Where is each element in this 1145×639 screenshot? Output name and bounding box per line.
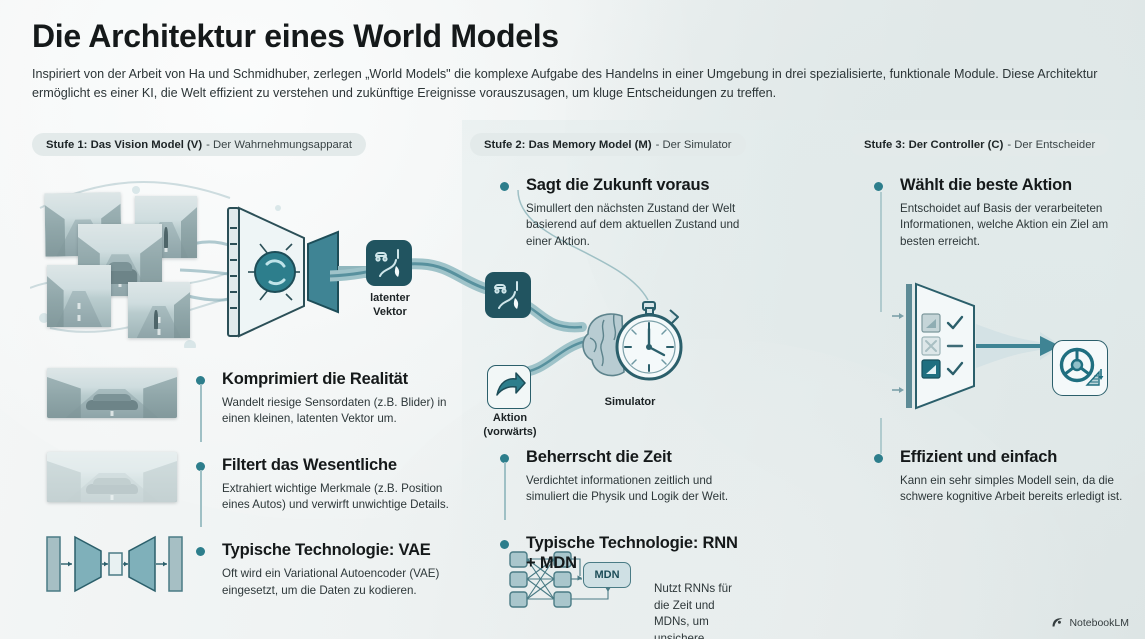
bullet-body: Kann ein sehr simples Modell sein, da di… bbox=[900, 473, 1124, 506]
bullet-rail bbox=[200, 384, 202, 442]
bullet-sagt-zukunft: Sagt die Zukunft voraus Simullert den nä… bbox=[500, 176, 750, 250]
action-label-line2: (vorwärts) bbox=[472, 426, 548, 440]
stage-pill-3: Stufe 3: Der Controller (C) - Der Entsch… bbox=[850, 133, 1109, 156]
page-title: Die Architektur eines World Models bbox=[32, 18, 1113, 55]
latent-vector-label: latenter Vektor bbox=[360, 292, 420, 320]
bullet-body: Oft wird ein Variational Autoencoder (VA… bbox=[222, 566, 458, 599]
action-arrow-icon bbox=[487, 365, 531, 409]
bullet-heading: Filtert das Wesentliche bbox=[222, 456, 458, 476]
stopwatch-icon bbox=[608, 300, 694, 392]
column-2-bullet-1: Sagt die Zukunft voraus Simullert den nä… bbox=[500, 176, 750, 250]
bullet-rail bbox=[504, 462, 506, 520]
bullet-dot-icon bbox=[196, 547, 205, 556]
page-subtitle: Inspiriert von der Arbeit von Ha und Sch… bbox=[32, 65, 1113, 103]
preview-photo-foggy bbox=[47, 452, 177, 502]
stage-1-rest: - Der Wahrnehmungsapparat bbox=[206, 139, 352, 151]
watermark-label: NotebookLM bbox=[1069, 617, 1129, 629]
steering-wheel-icon bbox=[1052, 340, 1108, 396]
bullet-body: Simullert den nächsten Zustand der Welt … bbox=[526, 201, 750, 250]
bullet-dot-icon bbox=[500, 540, 509, 549]
stage-pill-2: Stufe 2: Das Memory Model (M) - Der Simu… bbox=[470, 133, 746, 156]
sensor-photo-5 bbox=[128, 282, 190, 338]
bullet-effizient: Effizient und einfach Kann ein sehr simp… bbox=[874, 448, 1124, 506]
bullet-heading: Effizient und einfach bbox=[900, 448, 1124, 468]
preview-photo-clear bbox=[47, 368, 177, 418]
stage-pill-1: Stufe 1: Das Vision Model (V) - Der Wahr… bbox=[32, 133, 366, 156]
latent-vector-label-line1: latenter bbox=[360, 292, 420, 306]
bullet-beherrscht-zeit: Beherrscht die Zeit Verdichtet informati… bbox=[500, 448, 750, 506]
bullet-komprimiert: Komprimiert die Realität Wandelt riesige… bbox=[196, 370, 458, 428]
bullet-heading: Wählt die beste Aktion bbox=[900, 176, 1124, 196]
stage-2-rest: - Der Simulator bbox=[656, 139, 732, 151]
bullet-rnn-mdn: Typische Technologie: RNN + MDN Nutzt RN… bbox=[500, 534, 750, 639]
vae-diagram bbox=[45, 533, 185, 595]
column-3-bullet-2: Effizient und einfach Kann ein sehr simp… bbox=[874, 448, 1124, 506]
stage-3-rest: - Der Entscheider bbox=[1007, 139, 1095, 151]
bullet-heading: Typische Technologie: RNN + MDN bbox=[526, 534, 750, 574]
stage-2-strong: Stufe 2: Das Memory Model (M) bbox=[484, 139, 652, 151]
bullet-body: Nutzt RNNs für die Zeit und MDNs, um uns… bbox=[654, 581, 750, 639]
column-1-bullets: Komprimiert die Realität Wandelt riesige… bbox=[196, 370, 458, 599]
bullet-body: Wandelt riesige Sensordaten (z.B. Blider… bbox=[222, 395, 458, 428]
simulator-label: Simulator bbox=[590, 396, 670, 410]
bullet-dot-icon bbox=[874, 182, 883, 191]
bullet-rail bbox=[200, 470, 202, 528]
bullet-heading: Beherrscht die Zeit bbox=[526, 448, 750, 468]
stage-1-strong: Stufe 1: Das Vision Model (V) bbox=[46, 139, 202, 151]
bullet-heading: Typische Technologie: VAE bbox=[222, 541, 458, 561]
bullet-heading: Sagt die Zukunft voraus bbox=[526, 176, 750, 196]
header: Die Architektur eines World Models Inspi… bbox=[32, 18, 1113, 103]
latent-vector-icon bbox=[366, 240, 412, 286]
action-label: Aktion (vorwärts) bbox=[472, 412, 548, 440]
bullet-body: Extrahiert wichtige Merkmale (z.B. Posit… bbox=[222, 481, 458, 514]
stage-3-strong: Stufe 3: Der Controller (C) bbox=[864, 139, 1003, 151]
bullet-body: Entschoidet auf Basis der verarbeiteten … bbox=[900, 201, 1124, 250]
bullet-dot-icon bbox=[500, 182, 509, 191]
notebooklm-logo-icon bbox=[1051, 616, 1064, 629]
bullet-heading: Komprimiert die Realität bbox=[222, 370, 458, 390]
bullet-waehlt-aktion: Wählt die beste Aktion Entschoidet auf B… bbox=[874, 176, 1124, 250]
latent-vector-label-line2: Vektor bbox=[360, 306, 420, 320]
watermark: NotebookLM bbox=[1051, 616, 1129, 629]
bullet-body: Verdichtet informationen zeitlich und si… bbox=[526, 473, 750, 506]
bullet-vae: Typische Technologie: VAE Oft wird ein V… bbox=[196, 541, 458, 599]
sensor-photo-4 bbox=[47, 265, 111, 327]
column-3-bullet-1: Wählt die beste Aktion Entschoidet auf B… bbox=[874, 176, 1124, 250]
action-label-line1: Aktion bbox=[472, 412, 548, 426]
bullet-filtert: Filtert das Wesentliche Extrahiert wicht… bbox=[196, 456, 458, 514]
column-2-bullets-lower: Beherrscht die Zeit Verdichtet informati… bbox=[500, 448, 750, 639]
controller-lower-connector bbox=[874, 418, 894, 458]
